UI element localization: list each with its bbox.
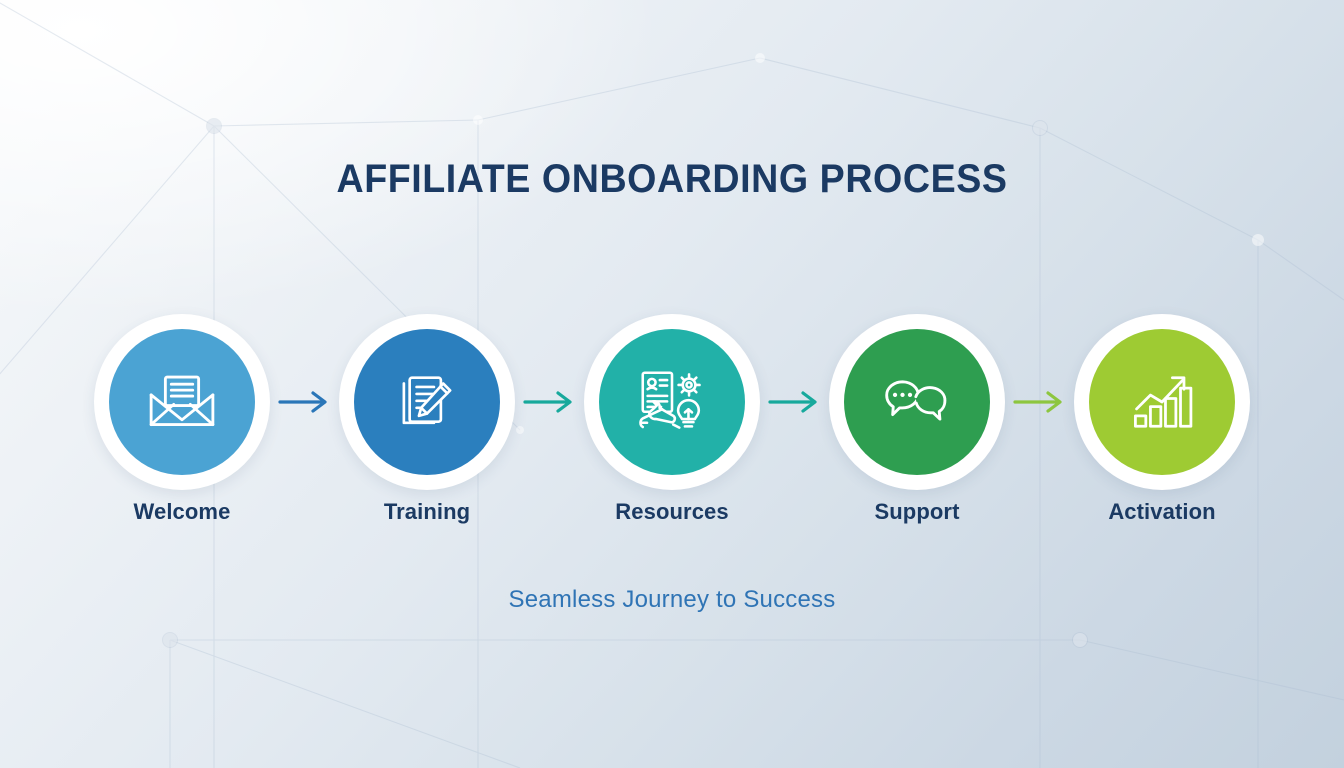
step-resources[interactable] [584,314,760,490]
step-label-training: Training [339,499,515,525]
step-labels: Welcome Training Resources Support Activ… [0,494,1344,530]
arrow-right-icon [277,388,333,416]
step-circle-welcome [109,329,255,475]
connector-welcome-training [270,382,339,422]
open-envelope-mail-icon [144,364,220,440]
step-activation[interactable] [1074,314,1250,490]
step-circle-resources [599,329,745,475]
process-flow [0,312,1344,492]
step-support[interactable] [829,314,1005,490]
toolkit-gear-lightbulb-wrench-icon [633,363,711,441]
step-circle-training [354,329,500,475]
step-circle-activation [1089,329,1235,475]
arrow-right-icon [522,388,578,416]
connector-resources-support [760,382,829,422]
step-welcome[interactable] [94,314,270,490]
connector-training-resources [515,382,584,422]
page-subtitle: Seamless Journey to Success [0,586,1344,614]
document-pencil-edit-icon [390,365,464,439]
arrow-right-icon [767,388,823,416]
page-title: AFFILIATE ONBOARDING PROCESS [40,157,1303,202]
step-circle-support [844,329,990,475]
step-label-activation: Activation [1074,499,1250,525]
step-label-welcome: Welcome [94,499,270,525]
chat-bubbles-icon [879,364,955,440]
step-training[interactable] [339,314,515,490]
step-label-support: Support [829,499,1005,525]
growth-bar-chart-arrow-icon [1125,365,1199,439]
arrow-right-icon [1012,388,1068,416]
infographic-canvas: AFFILIATE ONBOARDING PROCESS [0,0,1344,768]
connector-support-activation [1005,382,1074,422]
step-label-resources: Resources [584,499,760,525]
